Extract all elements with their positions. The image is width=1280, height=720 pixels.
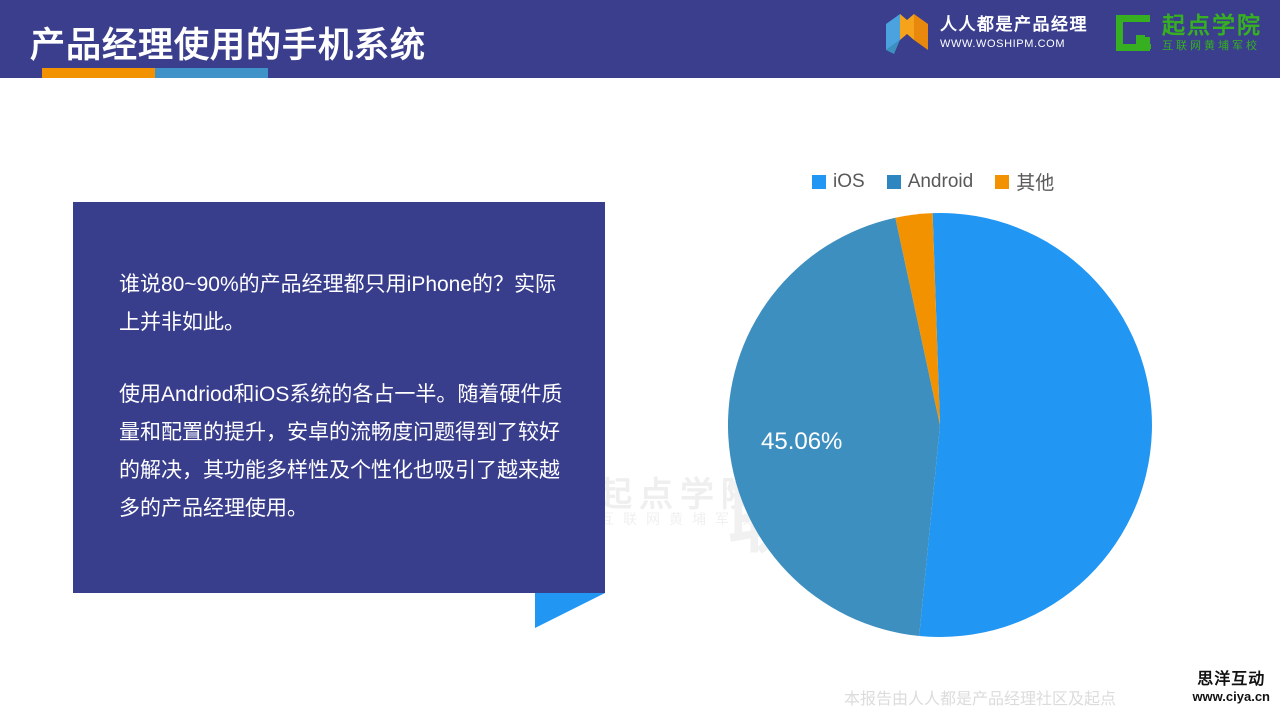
- pie-label-ios: 52.12%: [1078, 637, 1159, 665]
- legend-label-android: Android: [908, 171, 974, 193]
- page-header: 产品经理使用的手机系统 人人都是产品经理 WWW.WOSHIPM.COM: [0, 0, 1280, 78]
- pie-label-android: 45.06%: [761, 428, 842, 456]
- pie-slice-android[interactable]: [728, 218, 940, 636]
- callout-box: 谁说80~90%的产品经理都只用iPhone的？实际上并非如此。 使用Andri…: [73, 202, 605, 593]
- qidian-college-logo-icon: [1110, 11, 1154, 55]
- brand-woshipm: 人人都是产品经理 WWW.WOSHIPM.COM: [884, 10, 1088, 56]
- legend-item-android[interactable]: Android: [887, 171, 974, 193]
- woshipm-m-logo-icon: [884, 10, 930, 56]
- woshipm-url: WWW.WOSHIPM.COM: [940, 39, 1088, 50]
- title-underline-accent: [42, 68, 268, 78]
- brand-logos: 人人都是产品经理 WWW.WOSHIPM.COM 起点学院 互联网黄埔军校: [884, 10, 1262, 56]
- pie-slice-ios[interactable]: [919, 213, 1152, 637]
- brand-qidian: 起点学院 互联网黄埔军校: [1110, 11, 1262, 55]
- legend-swatch-android: [887, 175, 901, 189]
- underline-segment-orange: [42, 68, 155, 78]
- callout-paragraph-1: 谁说80~90%的产品经理都只用iPhone的？实际上并非如此。: [119, 266, 569, 342]
- callout-tail: [535, 593, 605, 628]
- pie-chart: iOS Android 其他 52.12% 45.06%: [700, 150, 1200, 650]
- legend-label-other: 其他: [1016, 168, 1054, 195]
- legend-item-other[interactable]: 其他: [995, 168, 1054, 195]
- callout-paragraph-2: 使用Andriod和iOS系统的各占一半。随着硬件质量和配置的提升，安卓的流畅度…: [119, 376, 569, 528]
- chart-legend: iOS Android 其他: [812, 168, 1054, 195]
- callout-text: 谁说80~90%的产品经理都只用iPhone的？实际上并非如此。 使用Andri…: [119, 266, 569, 528]
- pie-wrap: 52.12% 45.06%: [728, 213, 1152, 637]
- qidian-name: 起点学院: [1162, 14, 1262, 37]
- ciya-logo: 思洋互动 www.ciya.cn: [1192, 672, 1270, 703]
- ciya-logo-name: 思洋互动: [1192, 672, 1270, 688]
- legend-swatch-other: [995, 175, 1009, 189]
- page-title: 产品经理使用的手机系统: [30, 17, 426, 68]
- underline-segment-blue: [155, 68, 268, 78]
- woshipm-name: 人人都是产品经理: [940, 16, 1088, 33]
- qidian-tagline: 互联网黄埔军校: [1162, 41, 1262, 52]
- woshipm-text: 人人都是产品经理 WWW.WOSHIPM.COM: [940, 16, 1088, 50]
- legend-label-ios: iOS: [833, 171, 865, 193]
- page-footer: 本报告由人人都是产品经理社区及起点 思洋互动 www.ciya.cn: [0, 680, 1280, 720]
- footer-note: 本报告由人人都是产品经理社区及起点: [844, 685, 1116, 709]
- ciya-logo-url: www.ciya.cn: [1192, 690, 1270, 703]
- pie-svg: [728, 213, 1152, 637]
- legend-item-ios[interactable]: iOS: [812, 171, 865, 193]
- qidian-text: 起点学院 互联网黄埔军校: [1162, 14, 1262, 52]
- legend-swatch-ios: [812, 175, 826, 189]
